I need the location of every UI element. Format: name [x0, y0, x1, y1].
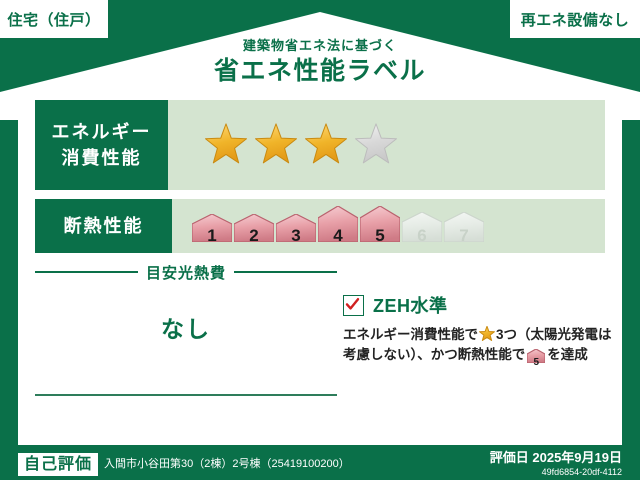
insulation-performance-value: 1234567 — [172, 199, 605, 253]
property-address: 入間市小谷田第30（2棟）2号棟（25419100200） — [104, 457, 350, 471]
insulation-level-number: 5 — [360, 227, 400, 245]
insulation-level-number: 6 — [402, 227, 442, 245]
insulation-performance-label: 断熱性能 — [35, 199, 172, 253]
zeh-title: ZEH水準 — [373, 292, 448, 318]
insulation-level-number: 7 — [444, 227, 484, 245]
energy-consumption-row: エネルギー 消費性能 — [35, 100, 605, 190]
zeh-desc-part2: 3つ（太陽光発電 — [496, 327, 598, 342]
star-rating — [204, 123, 398, 167]
energy-label-line1: エネルギー — [52, 119, 152, 145]
insulation-level-1-active: 1 — [192, 214, 232, 247]
insulation-level-number: 1 — [192, 227, 232, 245]
cost-section-divider — [35, 394, 337, 396]
energy-consumption-label: エネルギー 消費性能 — [35, 100, 168, 190]
insulation-level-3-active: 3 — [276, 214, 316, 247]
zeh-desc-part1: エネルギー消費性能で — [343, 327, 478, 342]
energy-performance-label: 建築物省エネ法に基づく 省エネ性能ラベル 住宅（住戸） 再エネ設備なし エネルギ… — [0, 0, 640, 480]
cost-rule-left — [35, 271, 138, 273]
insulation-level-scale: 1234567 — [192, 206, 484, 247]
insulation-level-4-active: 4 — [318, 206, 358, 247]
self-evaluation-badge: 自己評価 — [18, 453, 98, 476]
star-2-filled-icon — [254, 123, 298, 167]
building-type-chip: 住宅（住戸） — [0, 0, 108, 38]
zeh-standard-block: ZEH水準 エネルギー消費性能で3つ（太陽光発電は考慮しない）、かつ断熱性能で5… — [343, 292, 613, 369]
zeh-desc-part4: を達成 — [547, 347, 588, 362]
insulation-level-2-active: 2 — [234, 214, 274, 247]
star-icon — [479, 326, 495, 342]
insulation-level-number: 3 — [276, 227, 316, 245]
label-footer: 自己評価 入間市小谷田第30（2棟）2号棟（25419100200） 評価日 2… — [0, 445, 640, 480]
insulation-level-badge: 5 — [527, 349, 545, 369]
evaluation-date: 評価日 2025年9月19日 — [490, 450, 622, 466]
utility-cost-header: 目安光熱費 — [35, 262, 337, 282]
utility-cost-title: 目安光熱費 — [146, 262, 226, 283]
insulation-level-number: 4 — [318, 227, 358, 245]
zeh-checkbox[interactable] — [343, 295, 364, 316]
star-4-empty-icon — [354, 123, 398, 167]
insulation-performance-row: 断熱性能 1234567 — [35, 199, 605, 253]
insulation-level-5-active: 5 — [360, 206, 400, 247]
insulation-level-number: 2 — [234, 227, 274, 245]
insulation-label-text: 断熱性能 — [64, 214, 144, 238]
check-icon — [345, 297, 360, 312]
zeh-header: ZEH水準 — [343, 292, 613, 318]
inline-level-number: 5 — [527, 358, 545, 368]
utility-cost-value: なし — [35, 310, 337, 344]
star-1-filled-icon — [204, 123, 248, 167]
cost-rule-right — [234, 271, 337, 273]
energy-label-line2: 消費性能 — [62, 145, 142, 171]
zeh-description: エネルギー消費性能で3つ（太陽光発電は考慮しない）、かつ断熱性能で5を達成 — [343, 325, 613, 369]
evaluation-id: 49fd6854-20df-4112 — [542, 467, 622, 478]
insulation-level-7-inactive: 7 — [444, 212, 484, 247]
energy-consumption-value — [168, 100, 605, 190]
star-3-filled-icon — [304, 123, 348, 167]
insulation-level-6-inactive: 6 — [402, 212, 442, 247]
renewable-energy-chip: 再エネ設備なし — [510, 0, 640, 38]
